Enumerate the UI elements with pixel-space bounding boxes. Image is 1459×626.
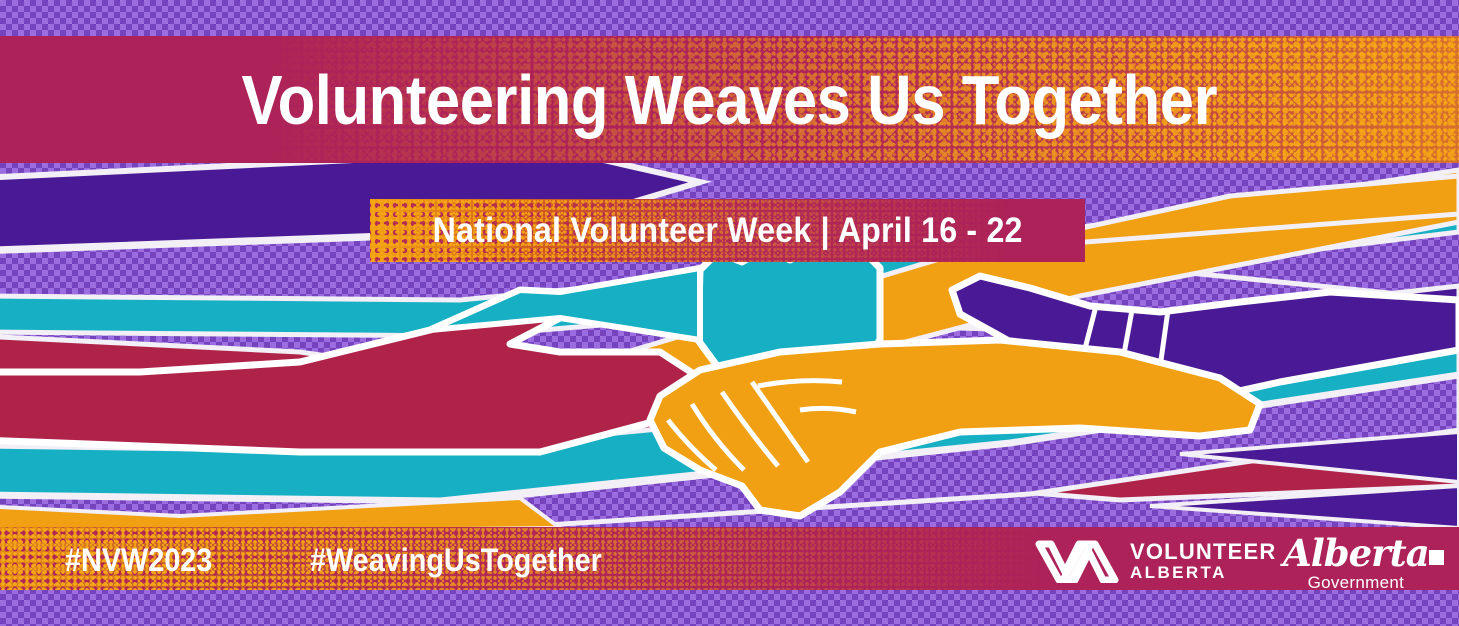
alberta-script-wordmark: Alberta <box>1283 535 1429 572</box>
page-title: Volunteering Weaves Us Together <box>242 65 1218 135</box>
national-volunteer-week-banner: Volunteering Weaves Us Together National… <box>0 0 1459 626</box>
va-wordmark-line2: ALBERTA <box>1130 564 1276 581</box>
hashtag-weavingustogether[interactable]: #WeavingUsTogether <box>310 544 602 576</box>
alberta-government-logo[interactable]: Alberta Government <box>1283 535 1429 593</box>
va-wordmark-line1: VOLUNTEER <box>1130 541 1276 563</box>
alberta-government-label: Government <box>1308 573 1405 593</box>
volunteer-alberta-logo[interactable]: VOLUNTEER ALBERTA <box>1035 538 1276 584</box>
volunteer-alberta-wordmark: VOLUNTEER ALBERTA <box>1130 541 1276 581</box>
alberta-square-icon <box>1429 550 1444 565</box>
hashtag-nvw2023[interactable]: #NVW2023 <box>65 544 212 576</box>
va-monogram-icon <box>1035 539 1119 583</box>
title-banner: Volunteering Weaves Us Together <box>0 36 1459 163</box>
subtitle-banner: National Volunteer Week | April 16 - 22 <box>370 199 1085 262</box>
event-dates-label: National Volunteer Week | April 16 - 22 <box>432 213 1022 248</box>
